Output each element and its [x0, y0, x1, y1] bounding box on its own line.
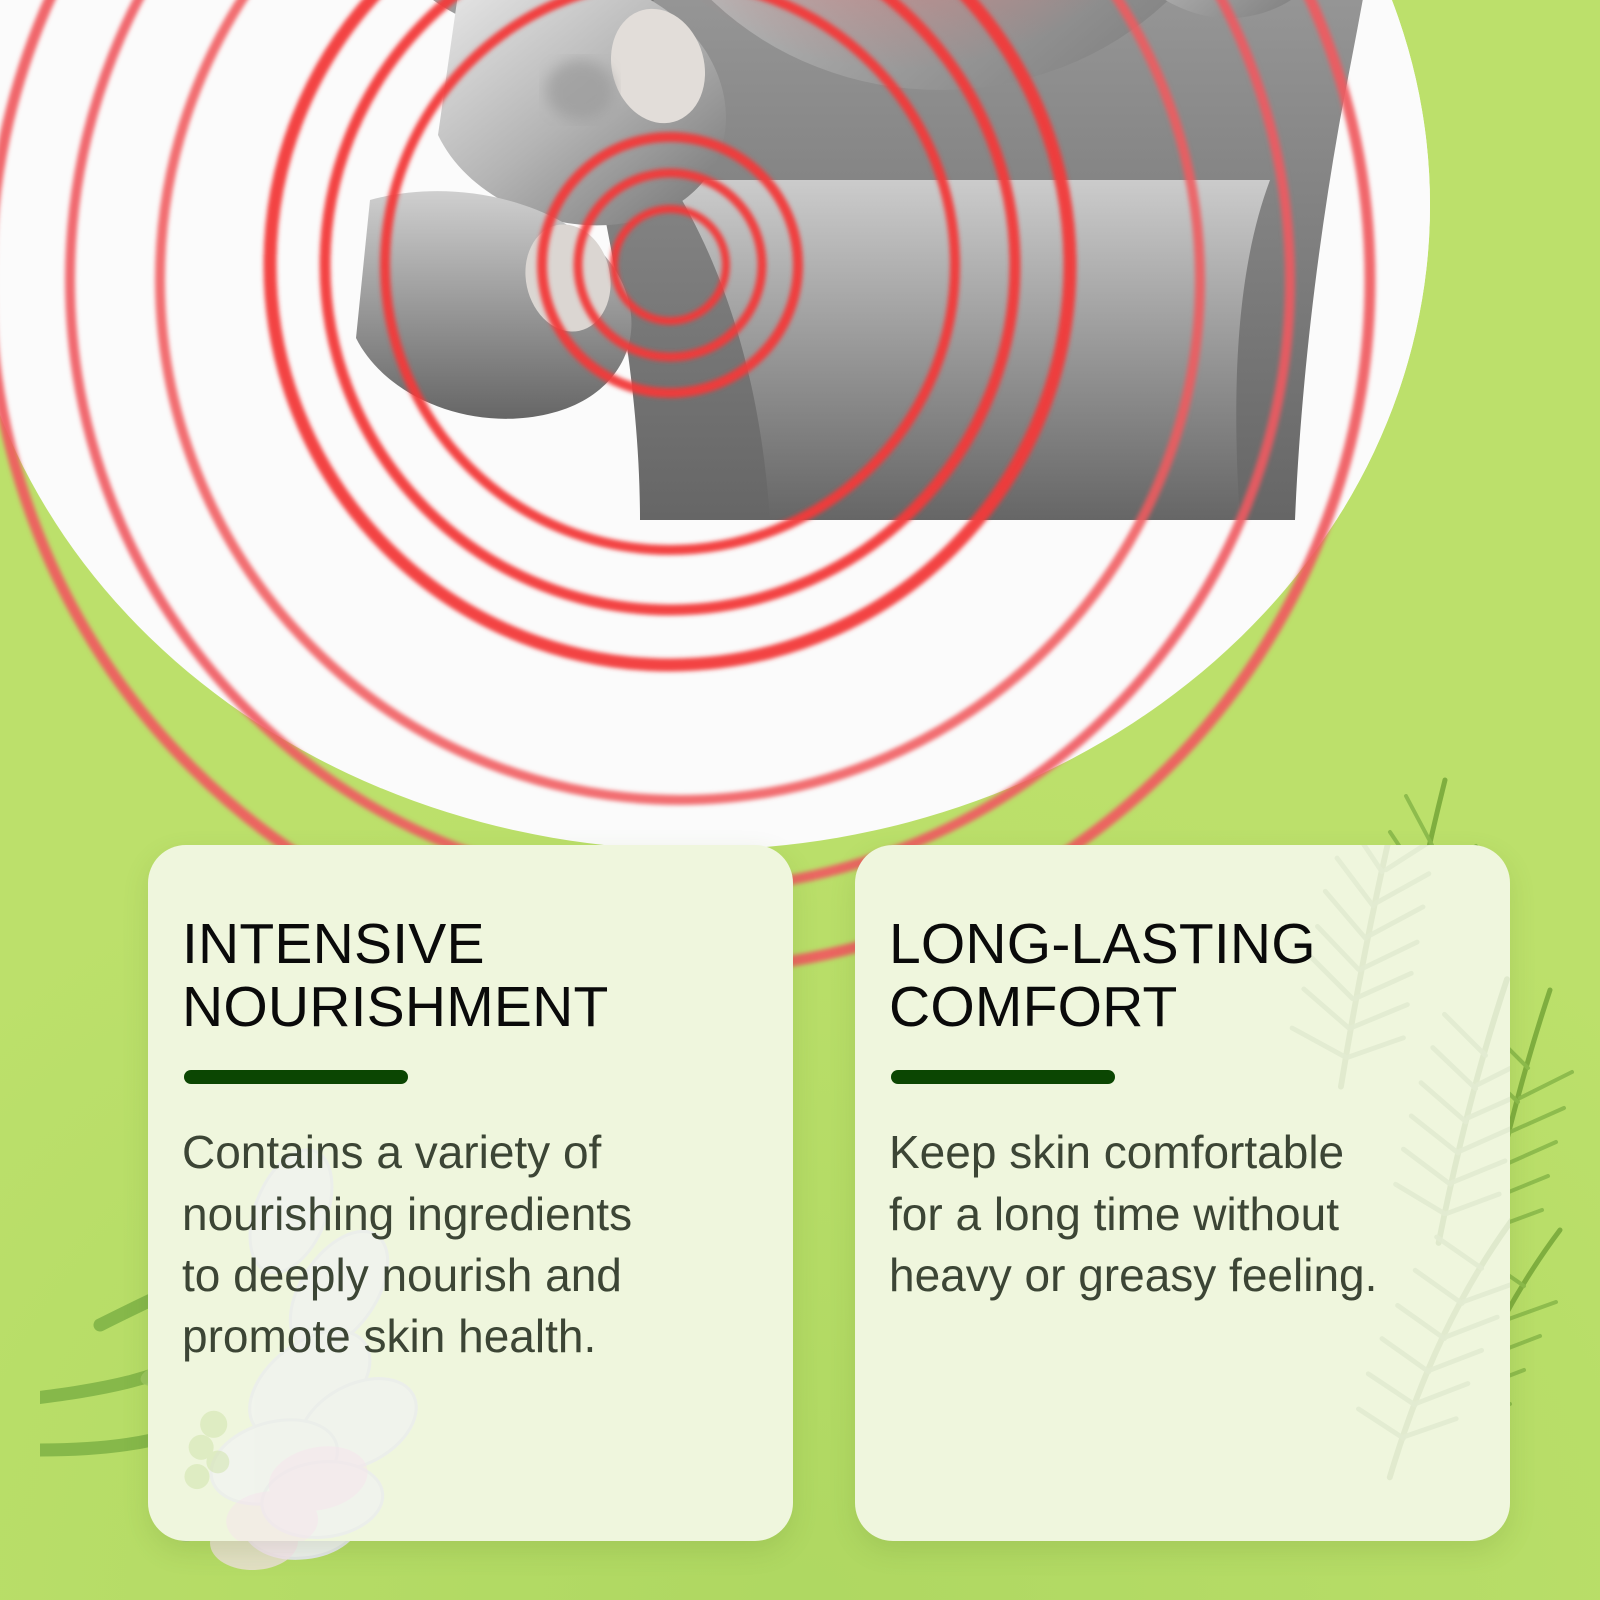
feature-cards: INTENSIVE NOURISHMENT Contains a variety…	[0, 0, 1600, 1600]
card-divider	[184, 1070, 408, 1084]
card-body: Keep skin comfortable for a long time wi…	[889, 1122, 1470, 1306]
card-title: LONG-LASTING COMFORT	[889, 913, 1470, 1038]
card-body: Contains a variety of nourishing ingredi…	[182, 1122, 753, 1367]
feature-card-long-lasting-comfort: LONG-LASTING COMFORT Keep skin comfortab…	[855, 845, 1510, 1541]
feature-card-intensive-nourishment: INTENSIVE NOURISHMENT Contains a variety…	[148, 845, 793, 1541]
card-title: INTENSIVE NOURISHMENT	[182, 913, 753, 1038]
poster-canvas: INTENSIVE NOURISHMENT Contains a variety…	[0, 0, 1600, 1600]
card-divider	[891, 1070, 1115, 1084]
